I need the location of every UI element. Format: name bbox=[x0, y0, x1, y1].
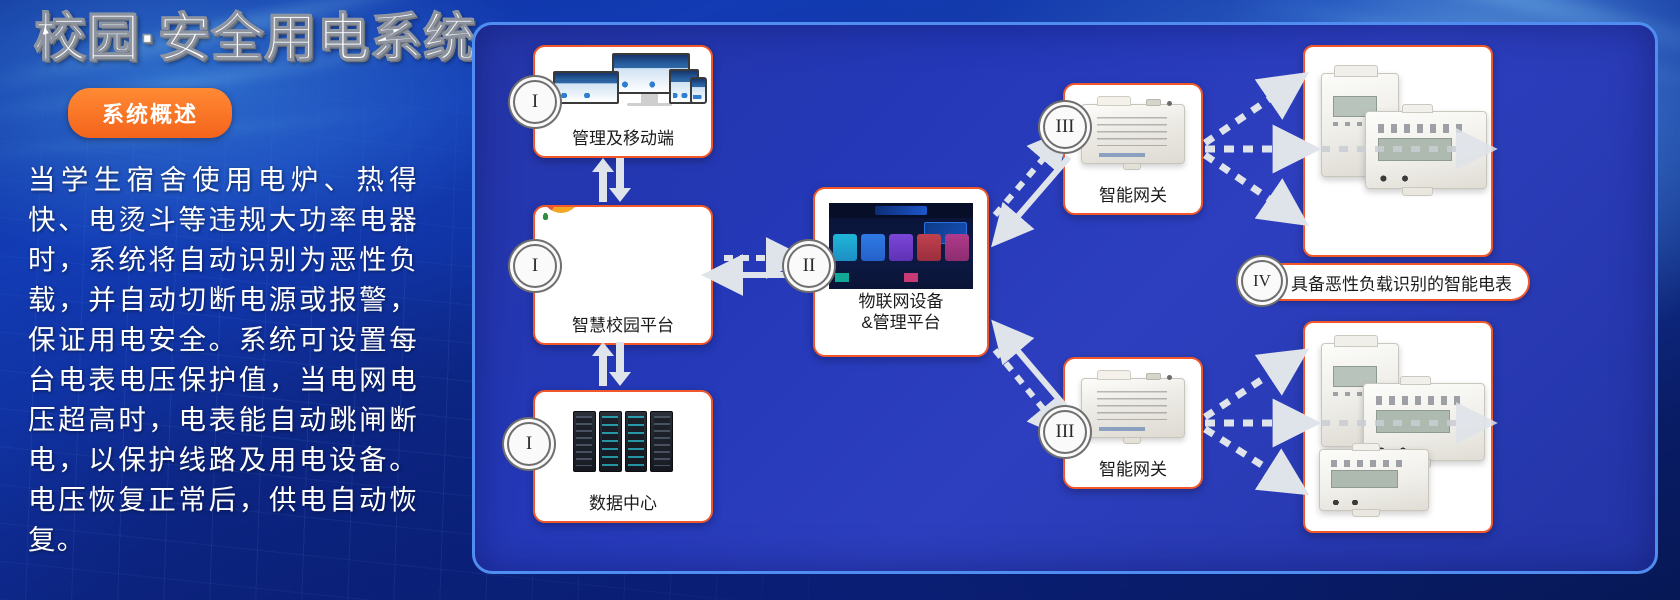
marker-admin-mobile: I bbox=[513, 80, 557, 124]
meter-type-label-text: 具备恶性负载识别的智能电表 bbox=[1291, 270, 1512, 295]
intro-column: 校园·安全用电系统 系统概述 当学生宿舍使用电炉、热得快、电烫斗等违规大功率电器… bbox=[28, 10, 458, 560]
arrow-gateway-bottom-meters bbox=[1205, 363, 1295, 481]
marker-iot-platform: II bbox=[787, 244, 831, 288]
arrow-admin-platform bbox=[592, 158, 631, 202]
meter-type-label[interactable]: 具备恶性负载识别的智能电表 bbox=[1245, 263, 1530, 301]
marker-gateway-top: III bbox=[1043, 105, 1087, 149]
arrow-platform-iot bbox=[724, 258, 785, 275]
arrow-gateway-top-meters bbox=[1205, 87, 1295, 211]
marker-campus-platform: I bbox=[513, 244, 557, 288]
marker-meter-type: IV bbox=[1241, 260, 1283, 302]
architecture-diagram-panel: 管理及移动端 I bbox=[472, 22, 1658, 574]
arrow-iot-gateway-top bbox=[995, 145, 1069, 230]
arrow-platform-datacenter bbox=[592, 342, 631, 386]
section-badge: 系统概述 bbox=[68, 88, 232, 138]
marker-data-center: I bbox=[507, 422, 551, 466]
page-title: 校园·安全用电系统 bbox=[28, 10, 458, 70]
overview-paragraph: 当学生宿舍使用电炉、热得快、电烫斗等违规大功率电器时，系统将自动识别为恶性负载，… bbox=[28, 160, 418, 560]
marker-gateway-bottom: III bbox=[1043, 410, 1087, 454]
